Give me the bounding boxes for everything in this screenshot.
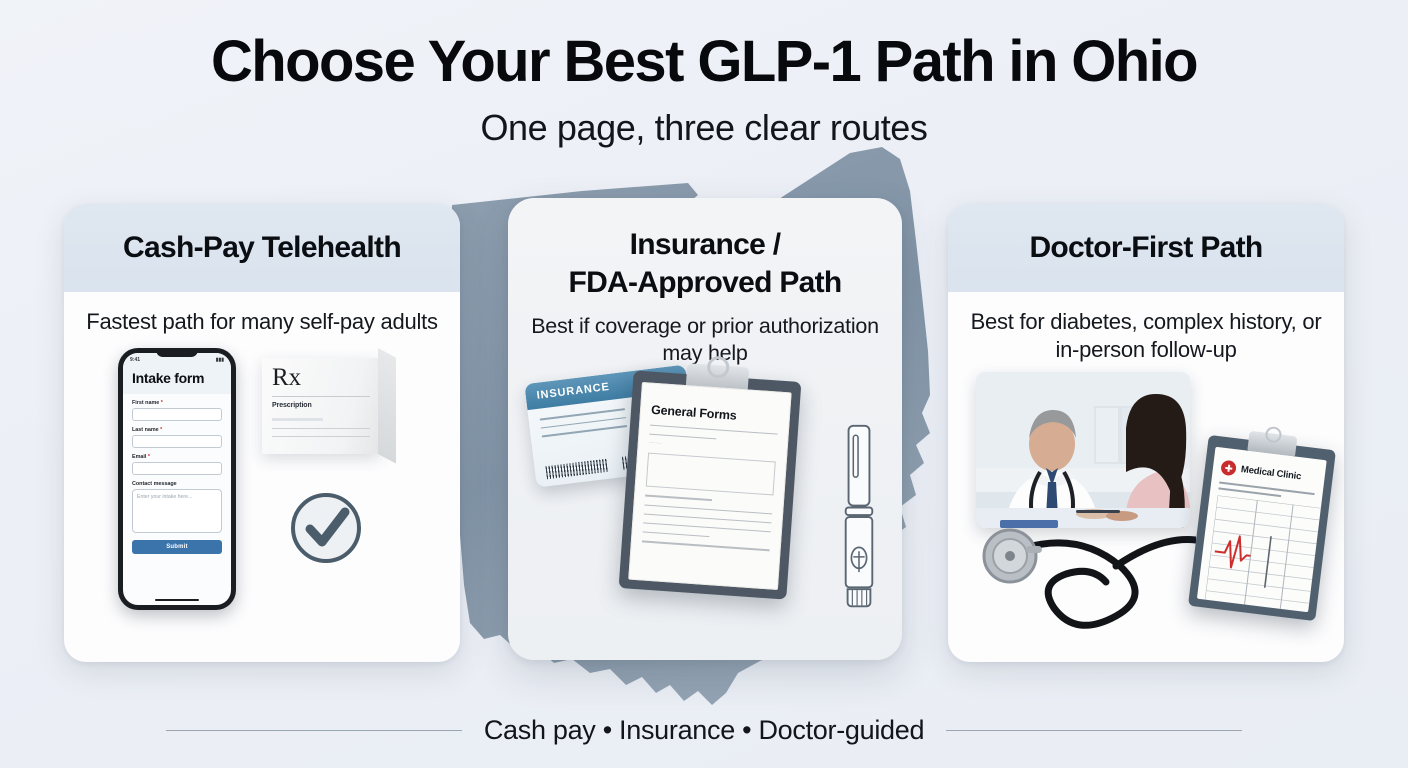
phone-home-indicator xyxy=(155,599,199,601)
last-name-label: Last name * xyxy=(132,427,222,433)
page-title: Choose Your Best GLP-1 Path in Ohio xyxy=(0,32,1408,93)
email-required: * xyxy=(148,454,150,460)
glp1-injection-pen-icon xyxy=(840,420,878,614)
first-name-required: * xyxy=(161,400,163,406)
last-name-required: * xyxy=(160,427,162,433)
page-header: Choose Your Best GLP-1 Path in Ohio One … xyxy=(0,0,1408,149)
general-forms-clipboard: General Forms ............ xyxy=(619,370,802,599)
status-icons: ▮▮▮ xyxy=(216,357,224,363)
form-line-8 xyxy=(642,541,770,551)
card-title-insurance-line1: Insurance / xyxy=(508,226,902,264)
email-label-text: Email xyxy=(132,454,146,460)
submit-button[interactable]: Submit xyxy=(132,540,222,554)
rx-line-1 xyxy=(272,428,370,429)
intake-form-title: Intake form xyxy=(123,366,231,394)
insurance-card-lines xyxy=(540,408,629,444)
consultation-illustration xyxy=(976,372,1190,528)
page-subtitle: One page, three clear routes xyxy=(0,107,1408,149)
ekg-chart xyxy=(1205,495,1327,612)
check-circle-icon xyxy=(286,488,366,568)
form-checkbox-group xyxy=(646,453,776,496)
rx-barcode-strip xyxy=(272,418,323,421)
card-title-doctor-first: Doctor-First Path xyxy=(1029,231,1262,265)
card-title-insurance: Insurance / FDA-Approved Path xyxy=(508,198,902,303)
rx-divider xyxy=(272,396,370,397)
last-name-label-text: Last name xyxy=(132,427,159,433)
card-header-cash-pay: Cash-Pay Telehealth xyxy=(64,204,460,292)
form-line-5 xyxy=(644,513,772,523)
footer-rule-left xyxy=(166,730,462,731)
card-title-cash-pay: Cash-Pay Telehealth xyxy=(123,231,401,265)
form-line-1 xyxy=(650,424,778,434)
intake-form-body: First name * Last name * Email * xyxy=(123,394,231,554)
form-line-7 xyxy=(643,531,709,537)
medical-cross-icon xyxy=(1220,460,1237,477)
medical-clinic-title: Medical Clinic xyxy=(1240,464,1301,482)
medical-record-clipboard: Medical Clinic xyxy=(1188,435,1336,621)
check-circle-icon-wrap xyxy=(286,488,366,573)
card-art-insurance: INSURANCE General Forms ............ xyxy=(508,368,902,660)
contact-message-label: Contact message xyxy=(132,481,222,487)
phone-mockup: 9:41 ▮▮▮ Intake form First name * Last n… xyxy=(118,348,236,610)
doctor-patient-consultation-photo xyxy=(976,372,1190,528)
card-doctor-first-path[interactable]: Doctor-First Path Best for diabetes, com… xyxy=(948,204,1344,662)
form-line-4 xyxy=(644,504,772,514)
card-title-insurance-line2: FDA-Approved Path xyxy=(508,264,902,302)
first-name-label: First name * xyxy=(132,400,222,406)
card-header-doctor-first: Doctor-First Path xyxy=(948,204,1344,292)
footer-rule-right xyxy=(946,730,1242,731)
card-subtitle-doctor-first: Best for diabetes, complex history, or i… xyxy=(948,292,1344,364)
clipboard-paper: General Forms ............ xyxy=(628,382,791,590)
card-subtitle-insurance: Best if coverage or prior authorization … xyxy=(508,303,902,368)
general-forms-title: General Forms xyxy=(651,403,780,426)
first-name-label-text: First name xyxy=(132,400,159,406)
email-label: Email * xyxy=(132,454,222,460)
prescription-label: Prescription xyxy=(272,402,370,409)
footer-text: Cash pay • Insurance • Doctor-guided xyxy=(484,715,924,746)
last-name-input[interactable] xyxy=(132,435,222,448)
status-time: 9:41 xyxy=(130,357,140,363)
card-cash-pay-telehealth[interactable]: Cash-Pay Telehealth Fastest path for man… xyxy=(64,204,460,662)
card-subtitle-cash-pay: Fastest path for many self-pay adults xyxy=(64,292,460,336)
form-line-2 xyxy=(649,434,715,440)
phone-screen: 9:41 ▮▮▮ Intake form First name * Last n… xyxy=(123,353,231,605)
rx-symbol: Rx xyxy=(272,367,370,390)
form-line-3 xyxy=(645,495,711,501)
email-input[interactable] xyxy=(132,462,222,475)
form-fineprint: ............ xyxy=(649,439,777,453)
path-cards-row: Cash-Pay Telehealth Fastest path for man… xyxy=(0,198,1408,678)
phone-notch xyxy=(156,348,198,357)
first-name-input[interactable] xyxy=(132,408,222,421)
rx-line-2 xyxy=(272,436,370,437)
record-paper: Medical Clinic xyxy=(1197,447,1327,613)
card-insurance-fda-path[interactable]: Insurance / FDA-Approved Path Best if co… xyxy=(508,198,902,660)
prescription-box: Rx Prescription xyxy=(262,358,380,454)
insurance-barcode-left xyxy=(545,459,608,479)
form-line-6 xyxy=(643,522,771,532)
footer-summary: Cash pay • Insurance • Doctor-guided xyxy=(0,715,1408,746)
stethoscope-icon xyxy=(966,514,1196,634)
contact-message-textarea[interactable]: Enter your intake here... xyxy=(132,489,222,533)
